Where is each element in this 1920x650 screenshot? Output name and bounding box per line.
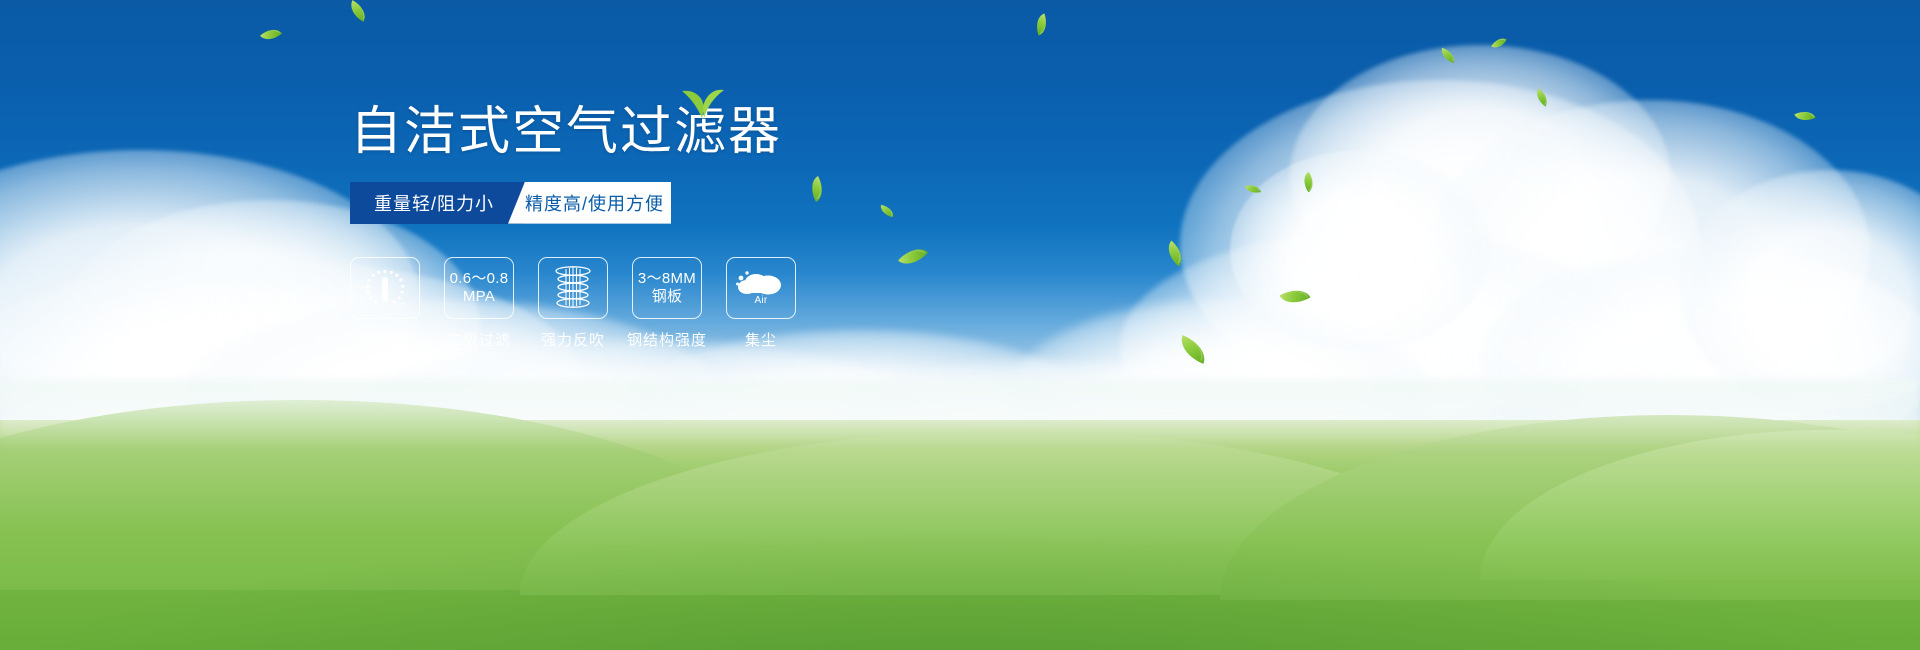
feature-caption: 强力反吹: [541, 329, 605, 350]
air-label: Air: [754, 295, 767, 306]
gauge-off-label: OFF: [394, 303, 406, 309]
feature-item-dust-collection: Air 集尘: [726, 257, 796, 350]
dust-cloud-icon: Air: [735, 268, 787, 308]
feature-item-two-stage-filter: 0.6～0.8 MPA 二级过滤: [444, 257, 514, 350]
steel-value-line-2: 钢板: [652, 288, 683, 305]
badge-label: 精度高/使用方便: [525, 190, 664, 216]
feature-caption: 集尘: [745, 329, 777, 350]
steel-value-line-1: 3～8MM: [638, 270, 696, 287]
feature-item-backflush: 强力反吹: [538, 257, 608, 350]
gauge-on-label: NO: [362, 286, 371, 292]
feature-badge-group: 重量轻/阻力小 精度高/使用方便: [350, 182, 671, 224]
feature-caption: 钢结构强度: [627, 329, 707, 350]
feature-item-controller: NO OFF 控制仪: [350, 257, 420, 350]
badge-precision: 精度高/使用方便: [508, 182, 671, 224]
grass-shading: [0, 530, 1920, 650]
feature-icon-box: NO OFF: [350, 257, 420, 319]
grass-top-haze: [0, 380, 1920, 450]
leaf-pair-decoration-icon: [680, 85, 726, 119]
feature-icon-box: 3～8MM 钢板: [632, 257, 702, 319]
page-title: 自洁式空气过滤器: [350, 105, 870, 160]
pressure-value-line-2: MPA: [463, 288, 495, 305]
feature-icon-box: [538, 257, 608, 319]
pressure-value-line-1: 0.6～0.8: [450, 270, 509, 287]
hero-content: 自洁式空气过滤器 重量轻/阻力小 精度高/使用方便: [350, 105, 870, 350]
control-gauge-icon: NO OFF: [361, 265, 409, 311]
badge-lightweight: 重量轻/阻力小: [350, 182, 524, 224]
feature-icon-row: NO OFF 控制仪 0.6～0.8 MPA 二级过滤: [350, 257, 870, 350]
product-hero-banner: 自洁式空气过滤器 重量轻/阻力小 精度高/使用方便: [0, 0, 1920, 650]
feature-icon-box: Air: [726, 257, 796, 319]
grass-field: [0, 420, 1920, 650]
feature-icon-box: 0.6～0.8 MPA: [444, 257, 514, 319]
feature-caption: 控制仪: [361, 329, 409, 350]
feature-item-steel-strength: 3～8MM 钢板 钢结构强度: [632, 257, 702, 350]
feature-caption: 二级过滤: [447, 329, 511, 350]
badge-label: 重量轻/阻力小: [374, 190, 494, 216]
filter-coil-icon: [552, 264, 594, 312]
